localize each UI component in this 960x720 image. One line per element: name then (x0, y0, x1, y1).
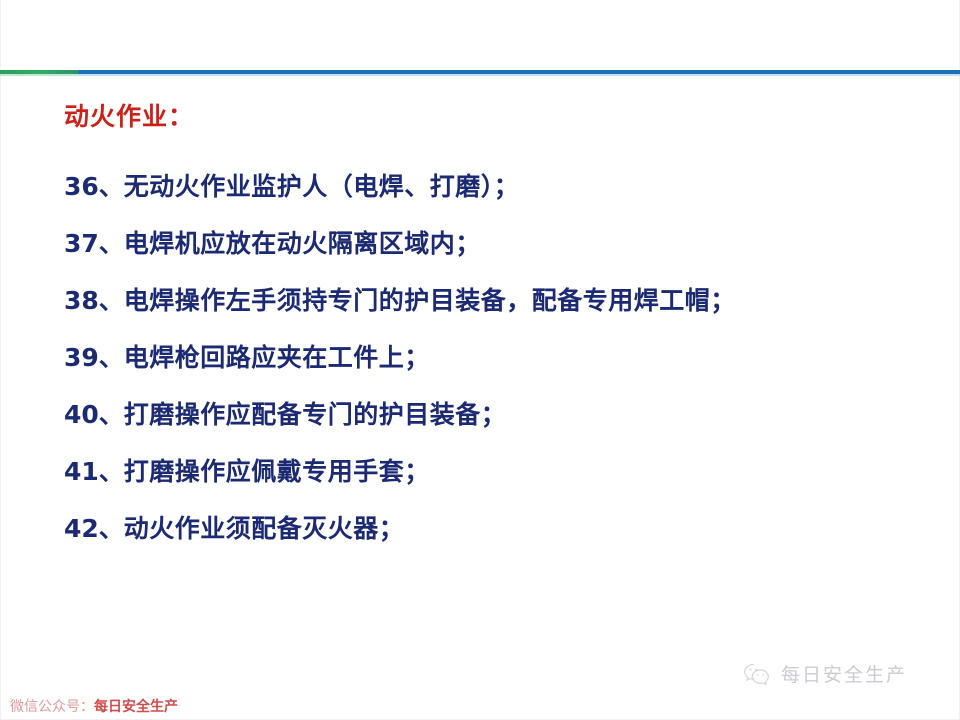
watermark-text: 每日安全生产 (781, 660, 907, 687)
header-divider-underline (0, 74, 960, 76)
list-item-number: 36、 (64, 172, 124, 201)
slide-canvas: 动火作业： 36、无动火作业监护人（电焊、打磨）； 37、电焊机应放在动火隔离区… (0, 0, 960, 720)
list-item: 41、打磨操作应佩戴专用手套； (64, 443, 944, 500)
list-item-text: 动火作业须配备灭火器； (124, 514, 405, 543)
page-title: 动火作业： (64, 100, 194, 134)
list-item-text: 电焊枪回路应夹在工件上； (124, 343, 430, 372)
list-item-text: 电焊操作左手须持专门的护目装备，配备专用焊工帽； (124, 286, 736, 315)
list-item: 42、动火作业须配备灭火器； (64, 500, 944, 557)
header-divider (0, 70, 960, 78)
credit-account-name: 每日安全生产 (94, 699, 178, 715)
list-item-text: 打磨操作应配备专门的护目装备； (124, 400, 507, 429)
list-item: 38、电焊操作左手须持专门的护目装备，配备专用焊工帽； (64, 272, 944, 329)
list-item-number: 41、 (64, 457, 124, 486)
list-item-number: 40、 (64, 400, 124, 429)
credit-label: 微信公众号： (10, 699, 94, 715)
list-item: 39、电焊枪回路应夹在工件上； (64, 329, 944, 386)
list-item: 40、打磨操作应配备专门的护目装备； (64, 386, 944, 443)
rules-list: 36、无动火作业监护人（电焊、打磨）； 37、电焊机应放在动火隔离区域内； 38… (64, 158, 944, 557)
list-item-text: 无动火作业监护人（电焊、打磨）； (124, 172, 520, 201)
list-item-number: 38、 (64, 286, 124, 315)
list-item-number: 37、 (64, 229, 124, 258)
list-item-text: 电焊机应放在动火隔离区域内； (124, 229, 481, 258)
credit-line: 微信公众号：每日安全生产 (10, 696, 178, 716)
header-divider-underline-green (0, 74, 79, 76)
wechat-icon (742, 662, 772, 686)
list-item-number: 42、 (64, 514, 124, 543)
list-item-text: 打磨操作应佩戴专用手套； (124, 457, 430, 486)
list-item: 37、电焊机应放在动火隔离区域内； (64, 215, 944, 272)
list-item: 36、无动火作业监护人（电焊、打磨）； (64, 158, 944, 215)
list-item-number: 39、 (64, 343, 124, 372)
watermark: 每日安全生产 (742, 660, 907, 687)
page-edge-left (0, 0, 1, 720)
